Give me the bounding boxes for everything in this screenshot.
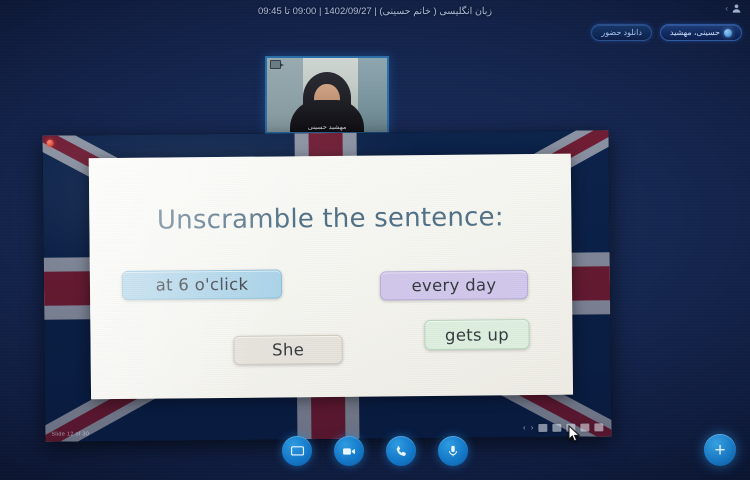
pen-tool-icon[interactable] xyxy=(538,424,547,432)
word-card-label: every day xyxy=(411,275,496,295)
next-slide-icon[interactable]: › xyxy=(531,424,534,432)
fullscreen-icon[interactable] xyxy=(580,423,589,431)
camera-icon xyxy=(270,60,281,69)
presenter-pill-label: حسینی، مهشید xyxy=(670,28,720,37)
secondary-pill-label: دانلود حضور xyxy=(601,28,641,37)
word-card-label: gets up xyxy=(445,325,509,345)
microphone-button[interactable] xyxy=(438,436,468,466)
video-icon xyxy=(341,444,357,459)
presentation-toolbar[interactable]: ‹ › xyxy=(523,423,603,432)
slide-title: Unscramble the sentence: xyxy=(89,202,571,237)
camera-button[interactable] xyxy=(334,436,364,466)
presentation-slide: Unscramble the sentence: at 6 o'click ev… xyxy=(89,154,573,400)
word-card-gets-up[interactable]: gets up xyxy=(424,319,529,350)
share-screen-button[interactable] xyxy=(282,436,312,466)
presenter-pill[interactable]: حسینی، مهشید xyxy=(660,24,742,41)
add-button[interactable]: + xyxy=(704,434,736,466)
session-title: زبان انگلیسی ( خانم حسینی) | 1402/09/27 … xyxy=(258,6,492,17)
word-card-label: She xyxy=(272,340,304,359)
previous-slide-icon[interactable]: ‹ xyxy=(523,424,526,432)
shared-screen[interactable]: Unscramble the sentence: at 6 o'click ev… xyxy=(43,130,612,441)
meeting-app-window: زبان انگلیسی ( خانم حسینی) | 1402/09/27 … xyxy=(0,0,750,480)
word-card-at-6-oclock[interactable]: at 6 o'click xyxy=(122,269,282,300)
top-bar: زبان انگلیسی ( خانم حسینی) | 1402/09/27 … xyxy=(0,0,750,22)
word-card-label: at 6 o'click xyxy=(156,275,249,295)
webcam-thumbnail[interactable]: مهشید حسینی xyxy=(265,56,389,134)
participants-toggle[interactable]: ‹ xyxy=(725,3,742,14)
call-controls xyxy=(0,436,750,466)
microphone-icon xyxy=(446,443,460,459)
participant-pills: حسینی، مهشید دانلود حضور xyxy=(591,24,742,41)
slide-menu-icon[interactable] xyxy=(552,424,561,432)
call-button[interactable] xyxy=(386,436,416,466)
presenter-avatar-icon xyxy=(724,29,732,37)
recording-dot xyxy=(47,140,54,147)
monitor-icon xyxy=(290,444,305,459)
plus-icon: + xyxy=(714,441,725,460)
word-card-she[interactable]: She xyxy=(233,335,342,365)
person-icon xyxy=(731,3,742,14)
chevron-left-icon: ‹ xyxy=(725,4,728,13)
word-card-every-day[interactable]: every day xyxy=(380,270,528,300)
options-icon[interactable] xyxy=(594,423,603,431)
phone-icon xyxy=(394,444,409,459)
secondary-pill[interactable]: دانلود حضور xyxy=(591,24,651,41)
webcam-participant-name: مهشید حسینی xyxy=(267,123,387,131)
